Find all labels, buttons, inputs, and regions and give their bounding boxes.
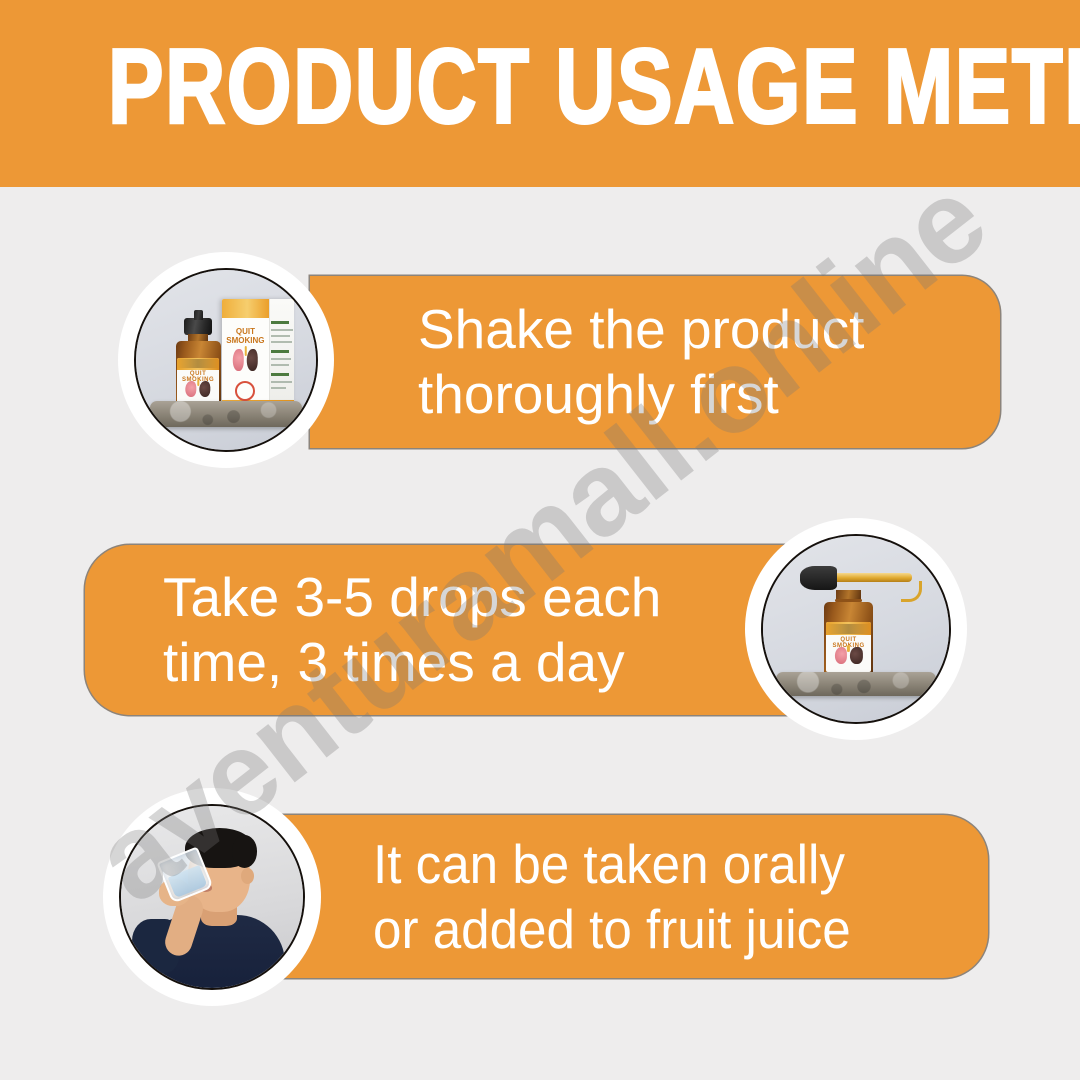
step-1-bar: Shake the product thoroughly first: [310, 276, 1000, 448]
step-2-image-circle: QUIT SMOKING: [745, 518, 967, 740]
page-title: PRODUCT USAGE METHOD: [108, 34, 972, 140]
stone-slab: [776, 672, 936, 696]
dropper-bottle: QUIT SMOKING: [176, 310, 221, 414]
step-1-photo: QUITSMOKING: [134, 268, 318, 452]
product-box: QUITSMOKING: [222, 299, 294, 411]
step-2-photo: QUIT SMOKING: [761, 534, 951, 724]
step-3-text: It can be taken orally or added to fruit…: [373, 832, 851, 962]
stone-slab: [150, 401, 301, 426]
step-2-text: Take 3-5 drops each time, 3 times a day: [163, 565, 661, 695]
step-1-text: Shake the product thoroughly first: [418, 297, 864, 427]
step-3-bar: It can be taken orally or added to fruit…: [265, 815, 988, 978]
infographic-canvas: PRODUCT USAGE METHOD Shake the product t…: [0, 0, 1080, 1080]
step-1-image-circle: QUITSMOKING: [118, 252, 334, 468]
pipette: [830, 573, 912, 582]
step-3-photo: [119, 804, 305, 990]
step-3-image-circle: [103, 788, 321, 1006]
header-band: PRODUCT USAGE METHOD: [0, 0, 1080, 187]
step-2-bar: Take 3-5 drops each time, 3 times a day: [85, 545, 830, 715]
pipette-bulb: [800, 566, 837, 590]
open-dropper-bottle: QUIT SMOKING: [824, 590, 872, 679]
